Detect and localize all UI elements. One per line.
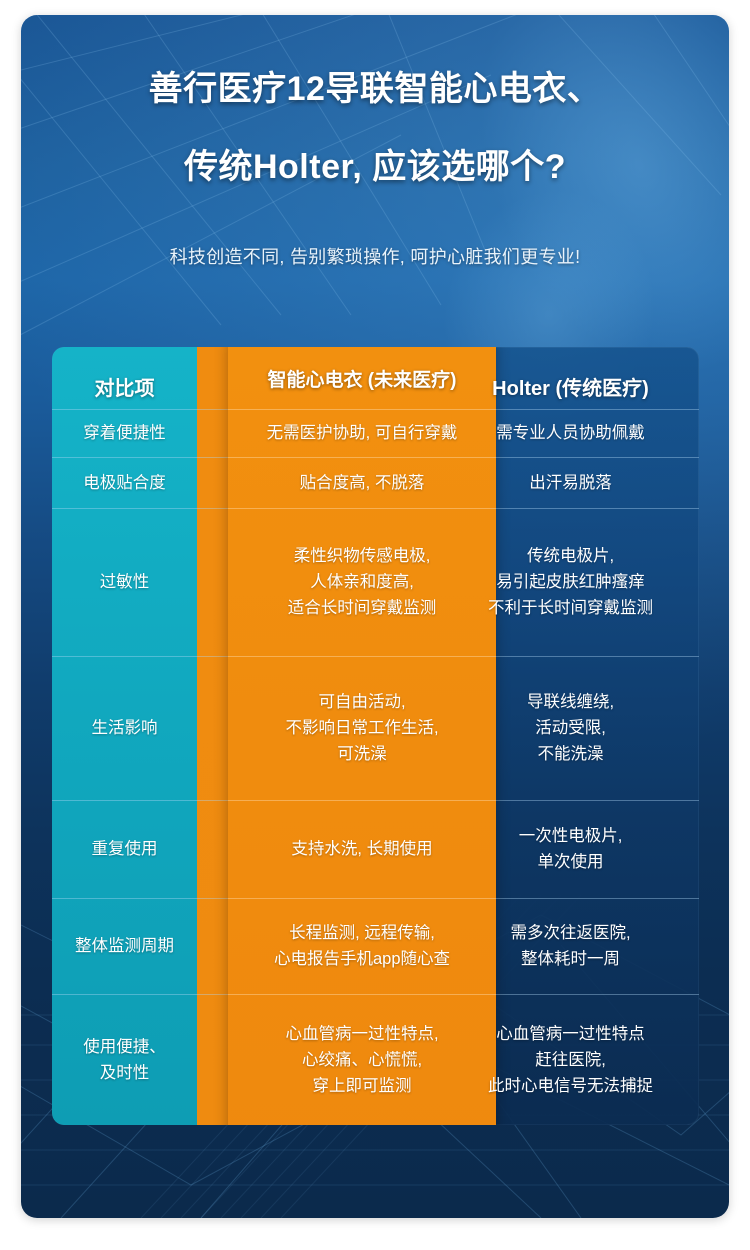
table-row: 穿着便捷性: [52, 409, 197, 457]
table-row: 使用便捷、 及时性: [52, 994, 197, 1125]
page-subtitle: 科技创造不同, 告别繁琐操作, 呵护心脏我们更专业!: [21, 243, 729, 269]
table-header-criteria: 对比项: [52, 363, 197, 409]
table-row: 过敏性: [52, 508, 197, 656]
page-title-line-1: 善行医疗12导联智能心电衣、: [21, 67, 729, 111]
table-header-holter: Holter (传统医疗): [442, 363, 699, 409]
poster-card: 善行医疗12导联智能心电衣、 传统Holter, 应该选哪个? 科技创造不同, …: [21, 15, 729, 1218]
table-row: 导联线缠绕, 活动受限, 不能洗澡: [442, 656, 699, 800]
comparison-table: 对比项 智能心电衣 (未来医疗) Holter (传统医疗) 穿着便捷性 无需医…: [52, 347, 699, 1125]
table-row: 一次性电极片, 单次使用: [442, 800, 699, 898]
table-row: 心血管病一过性特点 赶往医院, 此时心电信号无法捕捉: [442, 994, 699, 1125]
table-row: 需专业人员协助佩戴: [442, 409, 699, 457]
table-row: 重复使用: [52, 800, 197, 898]
table-row: 电极贴合度: [52, 457, 197, 508]
table-row: 整体监测周期: [52, 898, 197, 994]
table-row: 需多次往返医院, 整体耗时一周: [442, 898, 699, 994]
table-row: 出汗易脱落: [442, 457, 699, 508]
table-row: 生活影响: [52, 656, 197, 800]
page-title-line-2: 传统Holter, 应该选哪个?: [21, 145, 729, 189]
table-row: 传统电极片, 易引起皮肤红肿瘙痒 不利于长时间穿戴监测: [442, 508, 699, 656]
